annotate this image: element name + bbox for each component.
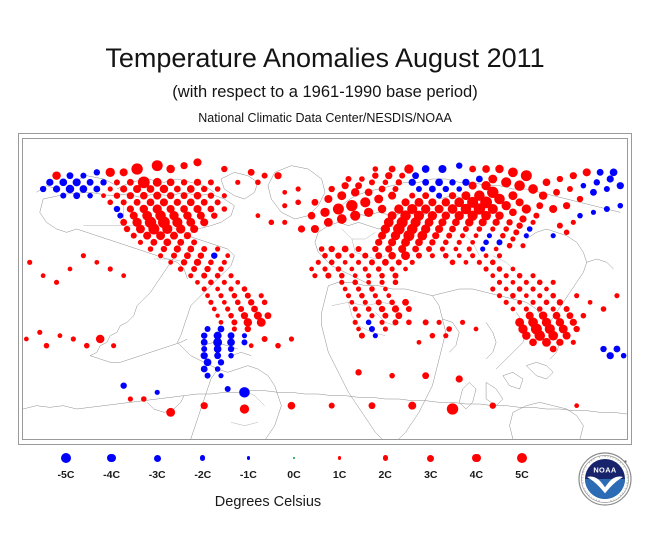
- anomaly-dot: [511, 280, 516, 285]
- anomaly-dot: [483, 240, 489, 246]
- anomaly-dot: [131, 163, 142, 174]
- anomaly-dot: [364, 208, 373, 217]
- anomaly-dot: [539, 191, 547, 199]
- anomaly-dot: [201, 186, 207, 192]
- anomaly-dot: [127, 205, 134, 212]
- anomaly-dot: [222, 300, 227, 305]
- anomaly-dot: [184, 252, 191, 259]
- anomaly-dot: [390, 266, 395, 271]
- anomaly-dot: [275, 343, 281, 349]
- anomaly-dot: [591, 210, 596, 215]
- anomaly-dot: [245, 326, 251, 332]
- anomaly-dot: [167, 179, 175, 187]
- anomaly-dot: [101, 193, 106, 198]
- anomaly-dot: [228, 353, 234, 359]
- legend-swatch: [181, 449, 225, 467]
- anomaly-dot: [322, 266, 327, 271]
- anomaly-dot: [201, 339, 208, 346]
- anomaly-dot: [131, 233, 137, 239]
- anomaly-dot: [218, 293, 223, 298]
- anomaly-dot: [342, 182, 349, 189]
- anomaly-dot: [417, 340, 422, 345]
- anomaly-dot: [577, 196, 583, 202]
- anomaly-dot: [429, 186, 436, 193]
- anomaly-dot: [356, 313, 361, 318]
- anomaly-dot: [143, 232, 151, 240]
- page-title: Temperature Anomalies August 2011: [0, 44, 650, 72]
- anomaly-dot: [174, 186, 181, 193]
- anomaly-dot: [493, 219, 500, 226]
- anomaly-dot: [166, 165, 174, 173]
- anomaly-dot: [574, 293, 579, 298]
- anomaly-dot: [373, 333, 378, 338]
- anomaly-dot: [474, 233, 479, 238]
- anomaly-dot: [325, 273, 331, 279]
- anomaly-dot: [488, 175, 497, 184]
- anomaly-dot: [504, 287, 509, 292]
- anomaly-dot: [184, 232, 191, 239]
- anomaly-dot: [141, 396, 147, 402]
- anomaly-dot: [114, 206, 120, 212]
- anomaly-dot: [537, 280, 543, 286]
- anomaly-dot: [621, 353, 627, 359]
- climate-map-figure: Temperature Anomalies August 2011 (with …: [0, 0, 650, 534]
- anomaly-dot: [383, 326, 388, 331]
- anomaly-dot: [581, 183, 587, 189]
- anomaly-dot: [470, 240, 475, 245]
- anomaly-dot: [443, 240, 449, 246]
- anomaly-dot: [214, 345, 222, 353]
- anomaly-dot: [440, 246, 445, 251]
- anomaly-dot: [221, 166, 227, 172]
- anomaly-dot: [232, 293, 238, 299]
- legend-label: -3C: [135, 469, 179, 481]
- anomaly-dot: [570, 319, 577, 326]
- anomaly-dot: [469, 182, 477, 190]
- anomaly-dot: [517, 286, 523, 292]
- anomaly-dot: [111, 343, 116, 348]
- anomaly-dot: [422, 165, 430, 173]
- anomaly-dot: [406, 320, 412, 326]
- anomaly-dot: [432, 232, 439, 239]
- anomaly-dot: [240, 404, 249, 413]
- anomaly-dot: [490, 273, 495, 278]
- anomaly-dot: [353, 273, 358, 278]
- anomaly-dot: [362, 253, 368, 259]
- anomaly-dot: [152, 160, 163, 171]
- anomaly-dot: [416, 186, 422, 192]
- anomaly-dot: [81, 253, 86, 258]
- anomaly-dot: [191, 266, 197, 272]
- anomaly-dot: [502, 201, 511, 210]
- anomaly-dot: [215, 287, 220, 292]
- anomaly-dot: [422, 192, 429, 199]
- noaa-seal-icon: NATIONALOCEANICANDATMOSPHERICADMINISTRAT…: [578, 452, 632, 506]
- legend-label: 0C: [272, 469, 316, 481]
- anomaly-dot: [312, 199, 319, 206]
- anomaly-dot: [435, 205, 444, 214]
- legend-item-0C: 0C: [272, 449, 316, 481]
- noaa-logo: NATIONALOCEANICANDATMOSPHERICADMINISTRAT…: [578, 452, 632, 506]
- anomaly-dot: [166, 408, 175, 417]
- anomaly-dot: [366, 320, 372, 326]
- anomaly-dot: [127, 192, 134, 199]
- anomaly-dot: [352, 280, 358, 286]
- anomaly-dot: [487, 233, 492, 238]
- anomaly-dot: [71, 336, 76, 341]
- anomaly-dot: [242, 286, 248, 292]
- anomaly-dot: [551, 306, 556, 311]
- anomaly-dot: [262, 300, 268, 306]
- anomaly-dot: [329, 186, 335, 192]
- anomaly-dot: [201, 246, 207, 252]
- anomaly-dot: [100, 179, 106, 185]
- anomaly-dot: [245, 293, 251, 299]
- anomaly-dot-layer: [24, 158, 626, 416]
- anomaly-dot: [324, 195, 332, 203]
- anomaly-dot: [108, 186, 113, 191]
- anomaly-dot: [120, 168, 128, 176]
- anomaly-dot: [194, 192, 202, 200]
- anomaly-dot: [181, 259, 187, 265]
- anomaly-dot: [430, 333, 436, 339]
- anomaly-dot: [59, 179, 67, 187]
- anomaly-dot: [496, 239, 502, 245]
- anomaly-dot: [386, 293, 391, 298]
- anomaly-dot: [571, 220, 576, 225]
- anomaly-dot: [52, 171, 60, 179]
- anomaly-dot: [536, 202, 543, 209]
- anomaly-dot: [259, 293, 264, 298]
- anomaly-dot: [382, 259, 389, 266]
- anomaly-dot: [480, 246, 485, 251]
- legend-swatch: [454, 449, 498, 467]
- anomaly-dot: [372, 172, 378, 178]
- anomaly-dot: [490, 402, 496, 408]
- anomaly-dot: [456, 375, 463, 382]
- anomaly-dot: [476, 176, 483, 183]
- anomaly-dot: [516, 198, 524, 206]
- anomaly-dot: [251, 306, 258, 313]
- anomaly-dot: [544, 300, 550, 306]
- anomaly-dot: [373, 293, 378, 298]
- anomaly-dot: [248, 299, 254, 305]
- anomaly-dot: [337, 191, 346, 200]
- anomaly-dot: [359, 293, 365, 299]
- anomaly-dot: [369, 313, 374, 318]
- anomaly-dot: [124, 226, 130, 232]
- anomaly-dot: [335, 252, 341, 258]
- legend-item-1C: 1C: [318, 449, 362, 481]
- anomaly-dot: [148, 246, 154, 252]
- anomaly-dot: [215, 246, 220, 251]
- anomaly-dot: [510, 293, 516, 299]
- anomaly-dot: [316, 260, 321, 265]
- anomaly-dot: [508, 167, 518, 177]
- anomaly-dot: [353, 320, 358, 325]
- anomaly-dot: [215, 314, 219, 318]
- anomaly-dot: [128, 396, 133, 401]
- anomaly-dot: [376, 299, 382, 305]
- anomaly-dot: [215, 199, 221, 205]
- anomaly-dot: [507, 243, 513, 249]
- anomaly-dot: [218, 326, 225, 333]
- anomaly-dot: [522, 204, 531, 213]
- anomaly-dot: [550, 346, 557, 353]
- anomaly-dot: [120, 382, 126, 388]
- legend-dot: [383, 455, 388, 460]
- legend-label: -5C: [44, 469, 88, 481]
- anomaly-dot: [406, 306, 412, 312]
- anomaly-dot: [174, 245, 181, 252]
- legend-dot: [427, 455, 434, 462]
- anomaly-dot: [453, 247, 458, 252]
- legend-dot: [517, 453, 527, 463]
- anomaly-dot: [228, 313, 234, 319]
- anomaly-dot: [211, 212, 217, 218]
- anomaly-dot: [296, 186, 301, 191]
- anomaly-dot: [392, 186, 398, 192]
- anomaly-dot: [527, 226, 533, 232]
- anomaly-dot: [106, 168, 115, 177]
- legend-dot: [293, 457, 295, 459]
- anomaly-dot: [513, 229, 519, 235]
- anomaly-dot: [396, 179, 402, 185]
- anomaly-dot: [456, 162, 462, 168]
- anomaly-dot: [378, 232, 386, 240]
- anomaly-dot: [324, 218, 333, 227]
- anomaly-dot: [557, 223, 563, 229]
- anomaly-dot: [40, 186, 46, 192]
- anomaly-dot: [136, 225, 145, 234]
- anomaly-dot: [339, 280, 344, 285]
- anomaly-dot: [295, 200, 301, 206]
- anomaly-dot: [150, 239, 157, 246]
- anomaly-dot: [383, 287, 388, 292]
- anomaly-dot: [557, 176, 563, 182]
- anomaly-dot: [244, 318, 252, 326]
- anomaly-dot: [181, 179, 187, 185]
- anomaly-dot: [581, 313, 587, 319]
- anomaly-dot: [225, 306, 230, 311]
- anomaly-dot: [241, 312, 248, 319]
- anomaly-dot: [524, 306, 529, 311]
- anomaly-dot: [170, 232, 178, 240]
- anomaly-dot: [346, 200, 357, 211]
- anomaly-dot: [201, 273, 207, 279]
- anomaly-dot: [379, 280, 384, 285]
- anomaly-dot: [222, 280, 227, 285]
- anomaly-dot: [385, 172, 392, 179]
- anomaly-dot: [564, 306, 570, 312]
- anomaly-dot: [403, 267, 408, 272]
- anomaly-dot: [204, 359, 212, 367]
- anomaly-dot: [194, 179, 201, 186]
- anomaly-dot: [530, 273, 535, 278]
- anomaly-dot: [127, 179, 134, 186]
- anomaly-dot: [604, 186, 610, 192]
- anomaly-dot: [201, 199, 208, 206]
- anomaly-dot: [180, 162, 187, 169]
- anomaly-dot: [158, 253, 163, 258]
- anomaly-dot: [375, 252, 382, 259]
- anomaly-dot: [177, 239, 184, 246]
- anomaly-dot: [597, 169, 604, 176]
- anomaly-dot: [583, 168, 591, 176]
- anomaly-dot: [610, 169, 618, 177]
- anomaly-dot: [167, 192, 174, 199]
- anomaly-dot: [255, 180, 261, 186]
- anomaly-dot: [533, 213, 539, 219]
- anomaly-dot: [262, 173, 268, 179]
- anomaly-dot: [155, 390, 160, 395]
- legend-item-minus1C: -1C: [226, 449, 270, 481]
- anomaly-dot: [497, 280, 502, 285]
- anomaly-dot: [490, 260, 496, 266]
- anomaly-dot: [153, 178, 162, 187]
- anomaly-dot: [483, 266, 488, 271]
- anomaly-dot: [422, 179, 429, 186]
- anomaly-dot: [410, 260, 415, 265]
- legend-item-minus5C: -5C: [44, 449, 88, 481]
- legend-label: -2C: [181, 469, 225, 481]
- anomaly-dot: [120, 185, 127, 192]
- coastline-layer: [23, 166, 627, 439]
- anomaly-dot: [462, 179, 469, 186]
- anomaly-dot: [412, 246, 419, 253]
- anomaly-dot: [508, 191, 517, 200]
- anomaly-dot: [359, 176, 365, 182]
- anomaly-dot: [342, 246, 349, 253]
- anomaly-dot: [474, 327, 479, 332]
- anomaly-dot: [308, 212, 316, 220]
- anomaly-dot: [446, 326, 452, 332]
- anomaly-dot: [190, 225, 198, 233]
- anomaly-dot: [511, 267, 516, 272]
- anomaly-dot: [94, 169, 100, 175]
- anomaly-dot: [329, 403, 335, 409]
- anomaly-dot: [428, 198, 436, 206]
- anomaly-dot: [564, 230, 570, 236]
- anomaly-dot: [134, 199, 141, 206]
- legend-item-minus2C: -2C: [181, 449, 225, 481]
- anomaly-dot: [510, 236, 515, 241]
- anomaly-dot: [363, 266, 368, 271]
- legend-label: 3C: [409, 469, 453, 481]
- anomaly-dot: [201, 352, 208, 359]
- anomaly-dot: [408, 402, 416, 410]
- anomaly-dot: [235, 300, 241, 306]
- anomaly-dot: [452, 219, 460, 227]
- anomaly-dot: [409, 193, 415, 199]
- anomaly-dot: [349, 300, 354, 305]
- anomaly-dot: [607, 175, 614, 182]
- anomaly-dot: [504, 273, 509, 278]
- anomaly-dot: [511, 307, 516, 312]
- anomaly-dot: [524, 293, 529, 298]
- anomaly-dot: [392, 305, 399, 312]
- anomaly-dot: [336, 266, 342, 272]
- anomaly-dot: [211, 252, 217, 258]
- anomaly-dot: [194, 259, 201, 266]
- legend-swatch: [363, 449, 407, 467]
- anomaly-dot: [222, 260, 227, 265]
- anomaly-dot: [392, 273, 398, 279]
- anomaly-dot: [201, 366, 208, 373]
- anomaly-dot: [265, 312, 272, 319]
- anomaly-dot: [218, 359, 224, 365]
- anomaly-dot: [517, 273, 523, 279]
- anomaly-dot: [442, 198, 450, 206]
- anomaly-dot: [309, 267, 314, 272]
- anomaly-dot: [58, 333, 63, 338]
- anomaly-dot: [477, 226, 483, 232]
- anomaly-dot: [181, 192, 188, 199]
- anomaly-dot: [497, 293, 502, 298]
- anomaly-dot: [588, 300, 593, 305]
- anomaly-dot: [257, 318, 266, 327]
- anomaly-dot: [200, 218, 208, 226]
- anomaly-dot: [456, 186, 462, 192]
- anomaly-dot: [604, 206, 610, 212]
- anomaly-dot: [204, 266, 210, 272]
- anomaly-dot: [96, 335, 104, 343]
- anomaly-dot: [520, 243, 525, 248]
- anomaly-dot: [443, 186, 449, 192]
- anomaly-dot: [208, 300, 213, 305]
- legend-item-4C: 4C: [454, 449, 498, 481]
- anomaly-dot: [412, 172, 419, 179]
- anomaly-dot: [516, 222, 522, 228]
- anomaly-dot: [188, 273, 193, 278]
- anomaly-dot: [437, 320, 442, 325]
- anomaly-dot: [395, 312, 402, 319]
- anomaly-dot: [447, 403, 458, 414]
- anomaly-dot: [227, 339, 235, 347]
- anomaly-dot: [329, 260, 335, 266]
- anomaly-dot: [388, 192, 396, 200]
- anomaly-dot: [524, 233, 529, 238]
- anomaly-dot: [176, 224, 185, 233]
- anomaly-dot: [517, 300, 522, 305]
- legend-axis-label: Degrees Celsius: [18, 494, 518, 510]
- anomaly-dot: [87, 179, 94, 186]
- anomaly-dot: [345, 176, 351, 182]
- anomaly-dot: [490, 226, 495, 231]
- anomaly-dot: [174, 199, 181, 206]
- anomaly-dot: [195, 280, 200, 285]
- anomaly-dot: [537, 293, 542, 298]
- anomaly-dot: [355, 369, 361, 375]
- anomaly-dot: [449, 179, 455, 185]
- anomaly-dot: [218, 373, 223, 378]
- anomaly-dot: [435, 225, 443, 233]
- anomaly-dot: [60, 193, 66, 199]
- anomaly-dot: [450, 260, 456, 266]
- anomaly-dot: [514, 180, 525, 191]
- anomaly-dot: [329, 246, 335, 252]
- anomaly-dot: [378, 205, 386, 213]
- anomaly-dot: [218, 266, 224, 272]
- anomaly-dot: [94, 260, 99, 265]
- anomaly-dot: [208, 179, 214, 185]
- noaa-wordmark: NOAA: [593, 466, 617, 475]
- anomaly-dot: [521, 170, 532, 181]
- anomaly-dot: [320, 208, 329, 217]
- anomaly-dot: [551, 280, 556, 285]
- anomaly-dot: [571, 340, 576, 345]
- anomaly-dot: [228, 273, 233, 278]
